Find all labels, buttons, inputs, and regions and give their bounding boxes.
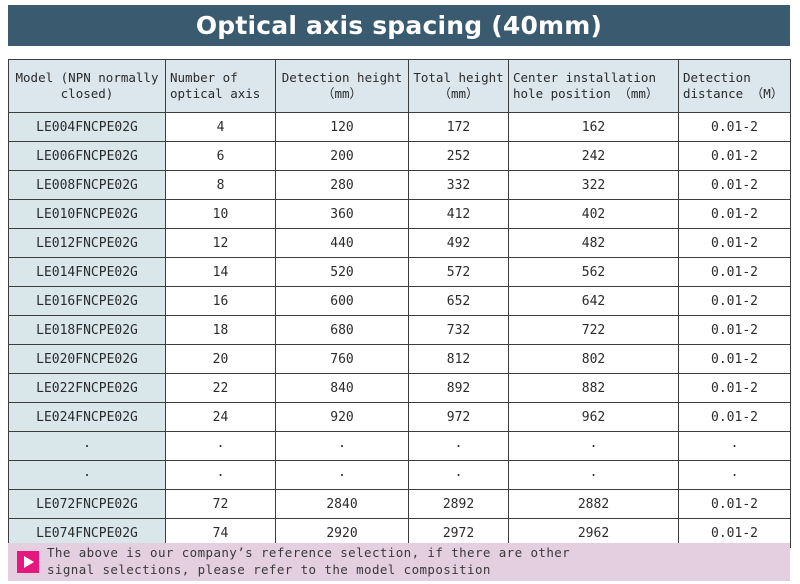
optical-axis-spec-table: Model (NPN normally closed) Number of op… xyxy=(8,59,791,548)
cell-number-of-axis: 4 xyxy=(166,113,276,142)
cell-center-hole: 882 xyxy=(509,374,679,403)
cell-center-hole: 162 xyxy=(509,113,679,142)
cell-model: LE072FNCPE02G xyxy=(9,490,166,519)
table-row: ...... xyxy=(9,432,791,461)
cell-total-height: 2892 xyxy=(409,490,509,519)
cell-number-of-axis: 22 xyxy=(166,374,276,403)
cell-center-hole: 722 xyxy=(509,316,679,345)
cell-detection-distance: . xyxy=(679,432,791,461)
cell-model: . xyxy=(9,461,166,490)
table-row: LE014FNCPE02G145205725620.01-2 xyxy=(9,258,791,287)
table-header-row: Model (NPN normally closed) Number of op… xyxy=(9,60,791,113)
table-row: LE072FNCPE02G722840289228820.01-2 xyxy=(9,490,791,519)
table-row: LE008FNCPE02G82803323220.01-2 xyxy=(9,171,791,200)
cell-detection-height: 840 xyxy=(276,374,409,403)
cell-total-height: 892 xyxy=(409,374,509,403)
cell-detection-distance: 0.01-2 xyxy=(679,374,791,403)
table-row: LE004FNCPE02G41201721620.01-2 xyxy=(9,113,791,142)
cell-detection-distance: 0.01-2 xyxy=(679,490,791,519)
cell-number-of-axis: 20 xyxy=(166,345,276,374)
cell-center-hole: 802 xyxy=(509,345,679,374)
cell-detection-height: . xyxy=(276,432,409,461)
cell-model: LE012FNCPE02G xyxy=(9,229,166,258)
column-header-total-height: Total height （mm） xyxy=(409,60,509,113)
cell-center-hole: . xyxy=(509,461,679,490)
table-row: ...... xyxy=(9,461,791,490)
cell-model: LE014FNCPE02G xyxy=(9,258,166,287)
cell-detection-height: 680 xyxy=(276,316,409,345)
cell-detection-distance: 0.01-2 xyxy=(679,171,791,200)
table-row: LE024FNCPE02G249209729620.01-2 xyxy=(9,403,791,432)
cell-number-of-axis: 12 xyxy=(166,229,276,258)
cell-center-hole: . xyxy=(509,432,679,461)
cell-detection-distance: 0.01-2 xyxy=(679,142,791,171)
cell-total-height: 412 xyxy=(409,200,509,229)
cell-number-of-axis: . xyxy=(166,461,276,490)
cell-detection-height: 280 xyxy=(276,171,409,200)
spec-table-container: Model (NPN normally closed) Number of op… xyxy=(8,59,790,548)
cell-center-hole: 642 xyxy=(509,287,679,316)
cell-total-height: 332 xyxy=(409,171,509,200)
cell-number-of-axis: 16 xyxy=(166,287,276,316)
cell-detection-height: 760 xyxy=(276,345,409,374)
cell-detection-distance: 0.01-2 xyxy=(679,229,791,258)
cell-number-of-axis: 14 xyxy=(166,258,276,287)
cell-detection-height: 200 xyxy=(276,142,409,171)
table-row: LE018FNCPE02G186807327220.01-2 xyxy=(9,316,791,345)
table-row: LE022FNCPE02G228408928820.01-2 xyxy=(9,374,791,403)
column-header-detection-height: Detection height （mm） xyxy=(276,60,409,113)
cell-detection-distance: 0.01-2 xyxy=(679,113,791,142)
cell-model: LE004FNCPE02G xyxy=(9,113,166,142)
cell-total-height: . xyxy=(409,461,509,490)
cell-number-of-axis: 72 xyxy=(166,490,276,519)
cell-detection-height: 120 xyxy=(276,113,409,142)
table-row: LE010FNCPE02G103604124020.01-2 xyxy=(9,200,791,229)
cell-model: LE006FNCPE02G xyxy=(9,142,166,171)
cell-number-of-axis: 6 xyxy=(166,142,276,171)
cell-center-hole: 962 xyxy=(509,403,679,432)
cell-detection-height: 920 xyxy=(276,403,409,432)
cell-model: LE018FNCPE02G xyxy=(9,316,166,345)
cell-number-of-axis: 10 xyxy=(166,200,276,229)
cell-center-hole: 322 xyxy=(509,171,679,200)
play-triangle-icon xyxy=(17,551,39,573)
cell-total-height: 732 xyxy=(409,316,509,345)
cell-total-height: 492 xyxy=(409,229,509,258)
cell-center-hole: 562 xyxy=(509,258,679,287)
cell-detection-distance: 0.01-2 xyxy=(679,345,791,374)
cell-number-of-axis: 18 xyxy=(166,316,276,345)
cell-detection-height: . xyxy=(276,461,409,490)
cell-detection-distance: 0.01-2 xyxy=(679,316,791,345)
cell-detection-distance: 0.01-2 xyxy=(679,403,791,432)
cell-total-height: 812 xyxy=(409,345,509,374)
cell-model: LE010FNCPE02G xyxy=(9,200,166,229)
page-title-bar: Optical axis spacing (40mm) xyxy=(8,5,790,46)
cell-number-of-axis: 24 xyxy=(166,403,276,432)
column-header-detection-distance: Detection distance （M） xyxy=(679,60,791,113)
cell-total-height: . xyxy=(409,432,509,461)
reference-note-text: The above is our company’s reference sel… xyxy=(47,545,570,579)
table-row: LE016FNCPE02G166006526420.01-2 xyxy=(9,287,791,316)
cell-total-height: 172 xyxy=(409,113,509,142)
table-header: Model (NPN normally closed) Number of op… xyxy=(9,60,791,113)
column-header-model: Model (NPN normally closed) xyxy=(9,60,166,113)
cell-model: . xyxy=(9,432,166,461)
table-row: LE012FNCPE02G124404924820.01-2 xyxy=(9,229,791,258)
table-row: LE020FNCPE02G207608128020.01-2 xyxy=(9,345,791,374)
cell-model: LE016FNCPE02G xyxy=(9,287,166,316)
cell-total-height: 572 xyxy=(409,258,509,287)
cell-detection-height: 2840 xyxy=(276,490,409,519)
cell-center-hole: 2882 xyxy=(509,490,679,519)
cell-detection-height: 360 xyxy=(276,200,409,229)
cell-model: LE024FNCPE02G xyxy=(9,403,166,432)
cell-detection-distance: 0.01-2 xyxy=(679,258,791,287)
cell-detection-distance: . xyxy=(679,461,791,490)
cell-number-of-axis: . xyxy=(166,432,276,461)
cell-detection-height: 520 xyxy=(276,258,409,287)
column-header-number-of-axis: Number of optical axis xyxy=(166,60,276,113)
table-body: LE004FNCPE02G41201721620.01-2LE006FNCPE0… xyxy=(9,113,791,548)
cell-detection-distance: 0.01-2 xyxy=(679,200,791,229)
cell-total-height: 252 xyxy=(409,142,509,171)
column-header-center-hole: Center installation hole position （mm） xyxy=(509,60,679,113)
cell-number-of-axis: 8 xyxy=(166,171,276,200)
cell-detection-distance: 0.01-2 xyxy=(679,287,791,316)
page-title: Optical axis spacing (40mm) xyxy=(196,13,602,38)
reference-note-banner: The above is our company’s reference sel… xyxy=(8,543,790,581)
cell-total-height: 652 xyxy=(409,287,509,316)
cell-center-hole: 402 xyxy=(509,200,679,229)
cell-center-hole: 482 xyxy=(509,229,679,258)
table-row: LE006FNCPE02G62002522420.01-2 xyxy=(9,142,791,171)
cell-model: LE020FNCPE02G xyxy=(9,345,166,374)
cell-model: LE008FNCPE02G xyxy=(9,171,166,200)
page-root: Optical axis spacing (40mm) Model (NPN n… xyxy=(0,0,800,584)
cell-detection-height: 600 xyxy=(276,287,409,316)
cell-model: LE022FNCPE02G xyxy=(9,374,166,403)
cell-detection-height: 440 xyxy=(276,229,409,258)
cell-center-hole: 242 xyxy=(509,142,679,171)
cell-total-height: 972 xyxy=(409,403,509,432)
